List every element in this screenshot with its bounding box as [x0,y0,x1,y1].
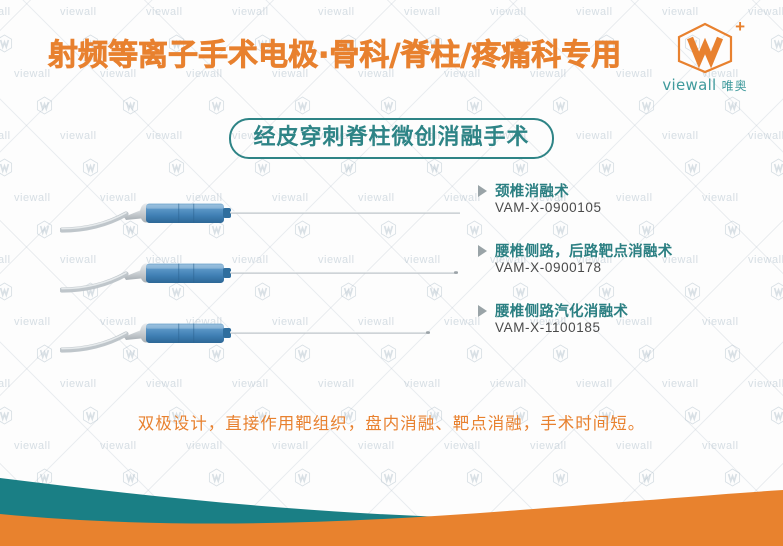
logo-brand-cn: 唯奥 [722,79,748,93]
watermark-logo-icon [512,158,529,177]
watermark-logo-icon [684,158,701,177]
probe-image-1 [60,244,460,296]
subtitle-badge: 经皮穿刺脊柱微创消融手术 [229,118,553,159]
watermark-text: viewall [490,6,527,18]
product-list: 颈椎消融术 VAM-X-0900105 腰椎侧路，后路靶点消融术 VAM-X-0… [0,178,783,388]
product-row: 腰椎侧路汽化消融术 VAM-X-1100185 [0,298,783,358]
triangle-bullet-icon [478,305,487,317]
watermark-logo-icon [168,158,185,177]
watermark-logo-icon [598,158,615,177]
watermark-text: viewall [530,440,567,452]
subtitle-container: 经皮穿刺脊柱微创消融手术 [0,118,783,159]
decorative-waves [0,456,783,546]
triangle-bullet-icon [478,185,487,197]
product-name: 腰椎侧路，后路靶点消融术 [495,240,673,261]
slide-canvas: viewallviewallviewallviewallviewallviewa… [0,0,783,546]
logo-wordmark: viewall 唯奥 [645,76,765,94]
electrode-probe-illustration [60,304,460,356]
probe-image-2 [60,304,460,356]
watermark-text: viewall [748,6,783,18]
watermark-logo-icon [340,158,357,177]
product-name: 腰椎侧路汽化消融术 [495,300,628,321]
watermark-text: viewall [232,6,269,18]
page-title: 射频等离子手术电极·骨科/脊柱/疼痛科专用 [48,34,621,78]
watermark-text: viewall [576,6,613,18]
watermark-text: viewall [444,440,481,452]
product-model: VAM-X-1100185 [495,320,601,335]
watermark-text: viewall [702,440,739,452]
watermark-text: viewall [0,6,11,18]
watermark-text: viewall [272,440,309,452]
product-model: VAM-X-0900178 [495,260,602,275]
product-model: VAM-X-0900105 [495,200,602,215]
electrode-probe-illustration [60,184,460,236]
watermark-text: viewall [100,440,137,452]
triangle-bullet-icon [478,245,487,257]
brand-logo: + viewall 唯奥 [645,22,765,94]
wave-svg [0,456,783,546]
watermark-logo-icon [426,158,443,177]
watermark-text: viewall [146,6,183,18]
logo-hexagon-icon: + [673,22,737,74]
probe-image-0 [60,184,460,236]
product-row: 腰椎侧路，后路靶点消融术 VAM-X-0900178 [0,238,783,298]
electrode-probe-illustration [60,244,460,296]
watermark-text: viewall [358,440,395,452]
watermark-logo-icon [82,158,99,177]
product-row: 颈椎消融术 VAM-X-0900105 [0,178,783,238]
watermark-logo-icon [0,158,13,177]
logo-va-icon [673,22,737,74]
watermark-text: viewall [404,6,441,18]
watermark-logo-icon [254,158,271,177]
watermark-text: viewall [186,440,223,452]
watermark-text: viewall [14,440,51,452]
logo-brand-en: viewall [662,76,716,94]
watermark-text: viewall [616,440,653,452]
watermark-text: viewall [662,6,699,18]
product-name: 颈椎消融术 [495,180,569,201]
logo-plus-icon: + [735,18,745,35]
watermark-text: viewall [318,6,355,18]
watermark-logo-icon [770,158,783,177]
footer-caption: 双极设计，直接作用靶组织，盘内消融、靶点消融，手术时间短。 [0,410,783,434]
watermark-text: viewall [60,6,97,18]
